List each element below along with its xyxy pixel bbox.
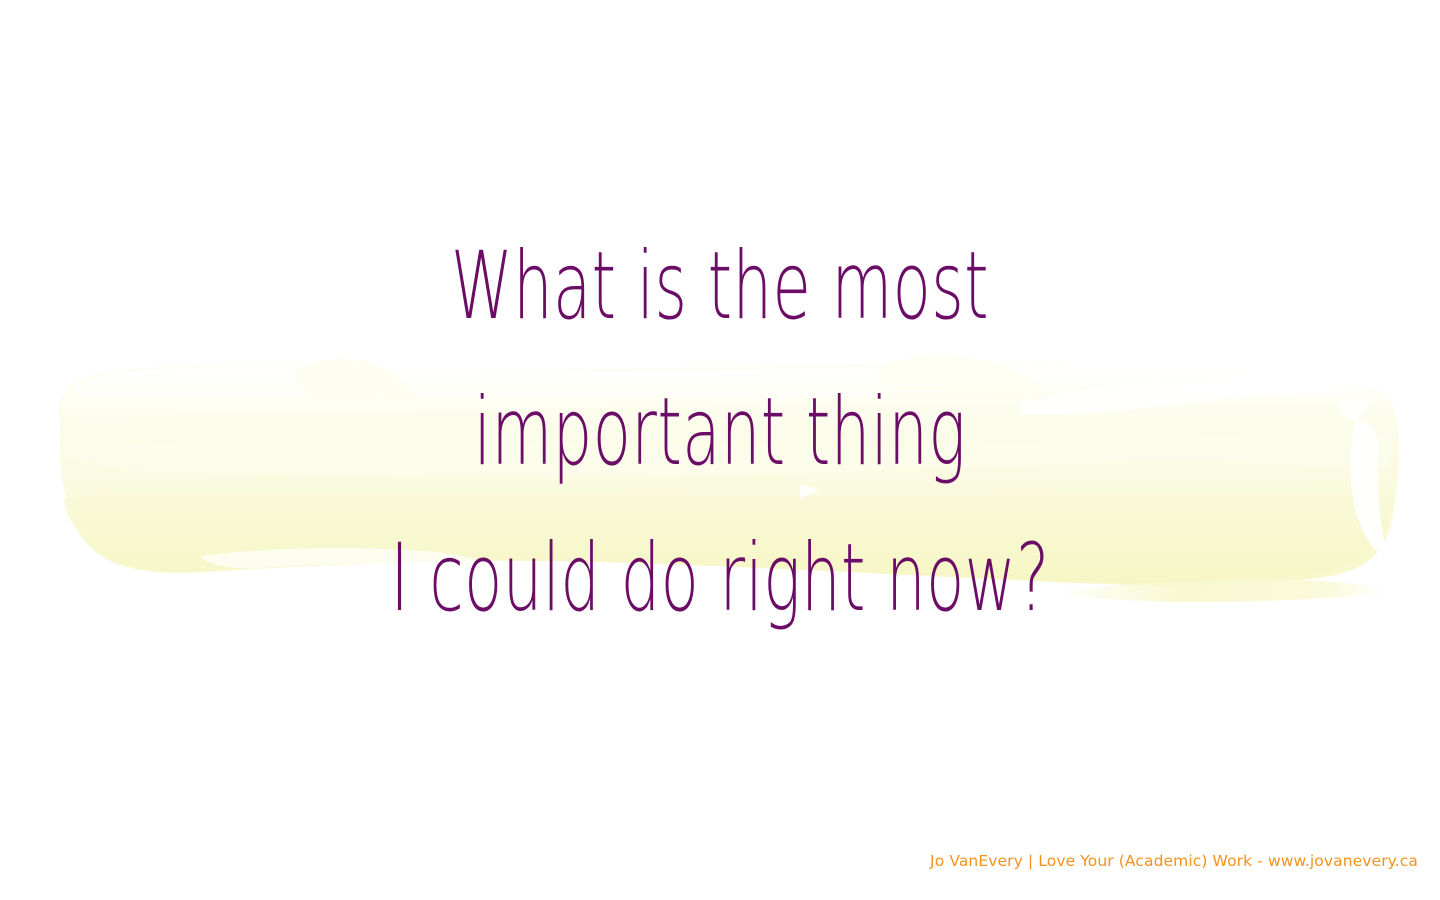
headline-block: What is the most important thing I could…: [0, 214, 1440, 652]
footer-credit-text: Jo VanEvery | Love Your (Academic) Work …: [930, 852, 1418, 870]
slide-canvas: What is the most important thing I could…: [0, 0, 1440, 900]
headline-line-3: I could do right now?: [144, 491, 1296, 666]
footer-credit: Jo VanEvery | Love Your (Academic) Work …: [930, 852, 1418, 870]
